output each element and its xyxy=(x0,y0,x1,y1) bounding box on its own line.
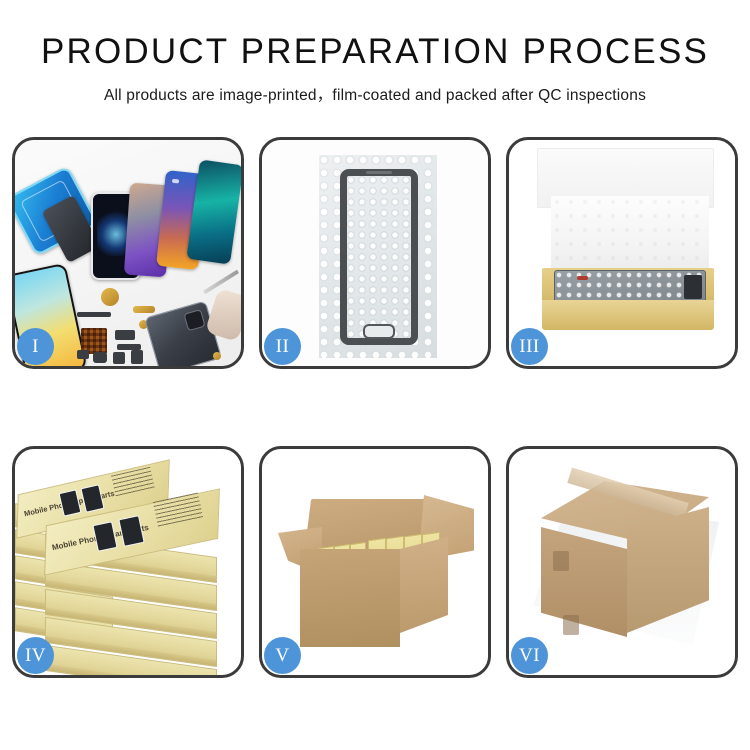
photo-open-carton xyxy=(262,449,488,675)
step-badge-4: IV xyxy=(17,637,54,674)
process-step-6: VI xyxy=(506,446,738,678)
foam-insert xyxy=(551,196,709,276)
sim-tray-part xyxy=(131,350,143,364)
gold-connector-part xyxy=(133,306,155,313)
flex-strip-part xyxy=(77,312,111,317)
speaker-part xyxy=(93,352,107,363)
bubble-wrap-sheet xyxy=(319,155,437,358)
process-step-3: III xyxy=(506,137,738,369)
camera-flex-part xyxy=(115,330,135,340)
carton-flap-tab xyxy=(563,615,579,635)
process-step-4: Mobile Phone Spare Parts Mobile Phone Sp… xyxy=(12,446,244,678)
wrapped-screen-glass xyxy=(340,169,418,345)
step-badge-1: I xyxy=(17,328,54,365)
product-preparation-infographic: PRODUCT PREPARATION PROCESS All products… xyxy=(0,0,750,750)
page-title: PRODUCT PREPARATION PROCESS xyxy=(0,34,750,71)
step-badge-3: III xyxy=(511,328,548,365)
earpiece-slot xyxy=(366,171,392,174)
photo-bubble-wrapped-screen xyxy=(262,140,488,366)
page-subtitle: All products are image-printed，film-coat… xyxy=(0,83,750,105)
step-badge-6: VI xyxy=(511,637,548,674)
screw-part xyxy=(213,352,221,360)
photo-sealed-carton xyxy=(509,449,735,675)
red-label-mark xyxy=(577,276,588,280)
photo-phone-screens-and-parts xyxy=(15,140,241,366)
small-chip-part xyxy=(77,350,89,359)
header: PRODUCT PREPARATION PROCESS All products… xyxy=(0,0,750,105)
process-step-1: I xyxy=(12,137,244,369)
photo-stacked-retail-boxes: Mobile Phone Spare Parts Mobile Phone Sp… xyxy=(15,449,241,675)
process-steps-grid: I II III xyxy=(12,137,738,678)
step-badge-2: II xyxy=(264,328,301,365)
vibrator-part xyxy=(101,288,119,306)
photo-screen-in-mailer-box xyxy=(509,140,735,366)
taptic-part xyxy=(113,352,125,364)
kraft-box-front xyxy=(542,300,714,330)
step-badge-5: V xyxy=(264,637,301,674)
carton-front-side xyxy=(300,549,400,647)
process-step-5: V xyxy=(259,446,491,678)
carton-flap-tab xyxy=(553,551,569,571)
process-step-2: II xyxy=(259,137,491,369)
carton-right-side xyxy=(400,537,448,633)
